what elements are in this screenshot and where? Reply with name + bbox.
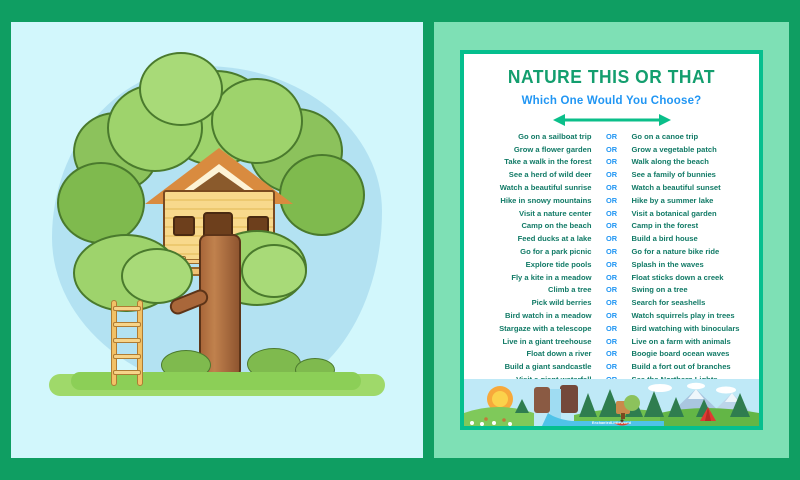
choice-option-left[interactable]: Go for a park picnic — [470, 247, 601, 256]
choice-option-right[interactable]: Swing on a tree — [623, 285, 754, 294]
choice-option-left[interactable]: Go on a sailboat trip — [470, 132, 601, 141]
choice-row: Climb a treeORSwing on a tree — [470, 284, 753, 297]
cloud-icon — [716, 387, 736, 394]
or-separator: OR — [601, 247, 623, 256]
or-separator: OR — [601, 349, 623, 358]
choice-option-right[interactable]: Grow a vegetable patch — [623, 145, 754, 154]
choice-option-right[interactable]: Splash in the waves — [623, 260, 754, 269]
ladder — [111, 300, 143, 386]
choice-list: Go on a sailboat tripORGo on a canoe tri… — [464, 130, 759, 386]
ladder-rung — [113, 306, 141, 311]
choice-option-left[interactable]: Explore tide pools — [470, 260, 601, 269]
choice-option-right[interactable]: Go on a canoe trip — [623, 132, 754, 141]
cloud-icon — [687, 383, 705, 389]
choice-row: Feed ducks at a lakeORBuild a bird house — [470, 232, 753, 245]
or-separator: OR — [601, 260, 623, 269]
choice-option-left[interactable]: Fly a kite in a meadow — [470, 273, 601, 282]
choice-row: Pick wild berriesORSearch for seashells — [470, 296, 753, 309]
choice-option-right[interactable]: Build a fort out of branches — [623, 362, 754, 371]
footer-landscape-scene: EnchantedLittleWorld — [464, 379, 759, 426]
page-title: NATURE THIS OR THAT — [473, 66, 750, 88]
ladder-rung — [113, 354, 141, 359]
choice-option-right[interactable]: Float sticks down a creek — [623, 273, 754, 282]
ladder-rung — [113, 370, 141, 375]
choice-row: Take a walk in the forestORWalk along th… — [470, 156, 753, 169]
or-separator: OR — [601, 324, 623, 333]
rock — [534, 387, 550, 413]
choice-option-left[interactable]: Build a giant sandcastle — [470, 362, 601, 371]
choice-option-left[interactable]: Bird watch in a meadow — [470, 311, 601, 320]
choice-row: Go on a sailboat tripORGo on a canoe tri… — [470, 130, 753, 143]
or-separator: OR — [601, 221, 623, 230]
choice-option-left[interactable]: Take a walk in the forest — [470, 157, 601, 166]
double-headed-arrow-icon — [553, 114, 671, 126]
mini-foliage — [624, 395, 640, 411]
or-separator: OR — [601, 145, 623, 154]
or-separator: OR — [601, 157, 623, 166]
choice-row: Build a giant sandcastleORBuild a fort o… — [470, 360, 753, 373]
choice-option-left[interactable]: Stargaze with a telescope — [470, 324, 601, 333]
double-arrow-decoration — [464, 114, 759, 126]
choice-row: Explore tide poolsORSplash in the waves — [470, 258, 753, 271]
printable-panel: NATURE THIS OR THAT Which One Would You … — [434, 22, 789, 458]
choice-option-right[interactable]: Bird watching with binoculars — [623, 324, 754, 333]
canopy-leaf — [139, 52, 223, 126]
rock — [560, 385, 578, 413]
choice-option-right[interactable]: Build a bird house — [623, 234, 754, 243]
cloud-icon — [648, 384, 672, 392]
choice-option-right[interactable]: Walk along the beach — [623, 157, 754, 166]
choice-option-right[interactable]: See a family of bunnies — [623, 170, 754, 179]
choice-option-left[interactable]: Float down a river — [470, 349, 601, 358]
choice-row: Bird watch in a meadowORWatch squirrels … — [470, 309, 753, 322]
choice-row: Fly a kite in a meadowORFloat sticks dow… — [470, 271, 753, 284]
or-separator: OR — [601, 285, 623, 294]
choice-row: See a herd of wild deerORSee a family of… — [470, 168, 753, 181]
choice-row: Go for a park picnicORGo for a nature bi… — [470, 245, 753, 258]
choice-option-right[interactable]: Boogie board ocean waves — [623, 349, 754, 358]
choice-option-right[interactable]: Visit a botanical garden — [623, 209, 754, 218]
choice-option-left[interactable]: Hike in snowy mountains — [470, 196, 601, 205]
choice-option-left[interactable]: See a herd of wild deer — [470, 170, 601, 179]
choice-option-left[interactable]: Climb a tree — [470, 285, 601, 294]
choice-option-right[interactable]: Watch a beautiful sunset — [623, 183, 754, 192]
landscape-illustration — [464, 379, 759, 426]
or-separator: OR — [601, 209, 623, 218]
choice-option-left[interactable]: Grow a flower garden — [470, 145, 601, 154]
choice-option-left[interactable]: Visit a nature center — [470, 209, 601, 218]
choice-row: Grow a flower gardenORGrow a vegetable p… — [470, 143, 753, 156]
choice-row: Stargaze with a telescopeORBird watching… — [470, 322, 753, 335]
or-separator: OR — [601, 196, 623, 205]
choice-row: Watch a beautiful sunriseORWatch a beaut… — [470, 181, 753, 194]
waterfall — [550, 389, 561, 419]
choice-row: Camp on the beachORCamp in the forest — [470, 220, 753, 233]
choice-option-left[interactable]: Camp on the beach — [470, 221, 601, 230]
or-separator: OR — [601, 311, 623, 320]
sun-core — [492, 391, 508, 407]
lower-leaf — [241, 244, 307, 298]
choice-option-right[interactable]: Hike by a summer lake — [623, 196, 754, 205]
or-separator: OR — [601, 183, 623, 192]
or-separator: OR — [601, 132, 623, 141]
choice-option-right[interactable]: Watch squirrels play in trees — [623, 311, 754, 320]
ladder-rung — [113, 322, 141, 327]
choice-option-left[interactable]: Pick wild berries — [470, 298, 601, 307]
this-or-that-card: NATURE THIS OR THAT Which One Would You … — [460, 50, 763, 430]
choice-option-left[interactable]: Feed ducks at a lake — [470, 234, 601, 243]
choice-option-right[interactable]: Camp in the forest — [623, 221, 754, 230]
choice-row: Live in a giant treehouseORLive on a far… — [470, 335, 753, 348]
mini-trunk — [621, 413, 625, 419]
choice-option-right[interactable]: Live on a farm with animals — [623, 337, 754, 346]
choice-row: Hike in snowy mountainsORHike by a summe… — [470, 194, 753, 207]
or-separator: OR — [601, 170, 623, 179]
or-separator: OR — [601, 337, 623, 346]
footer-credit: EnchantedLittleWorld — [464, 421, 759, 425]
or-separator: OR — [601, 273, 623, 282]
or-separator: OR — [601, 234, 623, 243]
or-separator: OR — [601, 298, 623, 307]
choice-option-left[interactable]: Watch a beautiful sunrise — [470, 183, 601, 192]
or-separator: OR — [601, 362, 623, 371]
choice-option-right[interactable]: Go for a nature bike ride — [623, 247, 754, 256]
choice-option-left[interactable]: Live in a giant treehouse — [470, 337, 601, 346]
choice-row: Visit a nature centerORVisit a botanical… — [470, 207, 753, 220]
house-window — [173, 216, 195, 236]
choice-option-right[interactable]: Search for seashells — [623, 298, 754, 307]
page-subtitle: Which One Would You Choose? — [464, 95, 759, 107]
treehouse-illustration-panel — [11, 22, 423, 458]
choice-row: Float down a riverORBoogie board ocean w… — [470, 348, 753, 361]
ladder-rung — [113, 338, 141, 343]
